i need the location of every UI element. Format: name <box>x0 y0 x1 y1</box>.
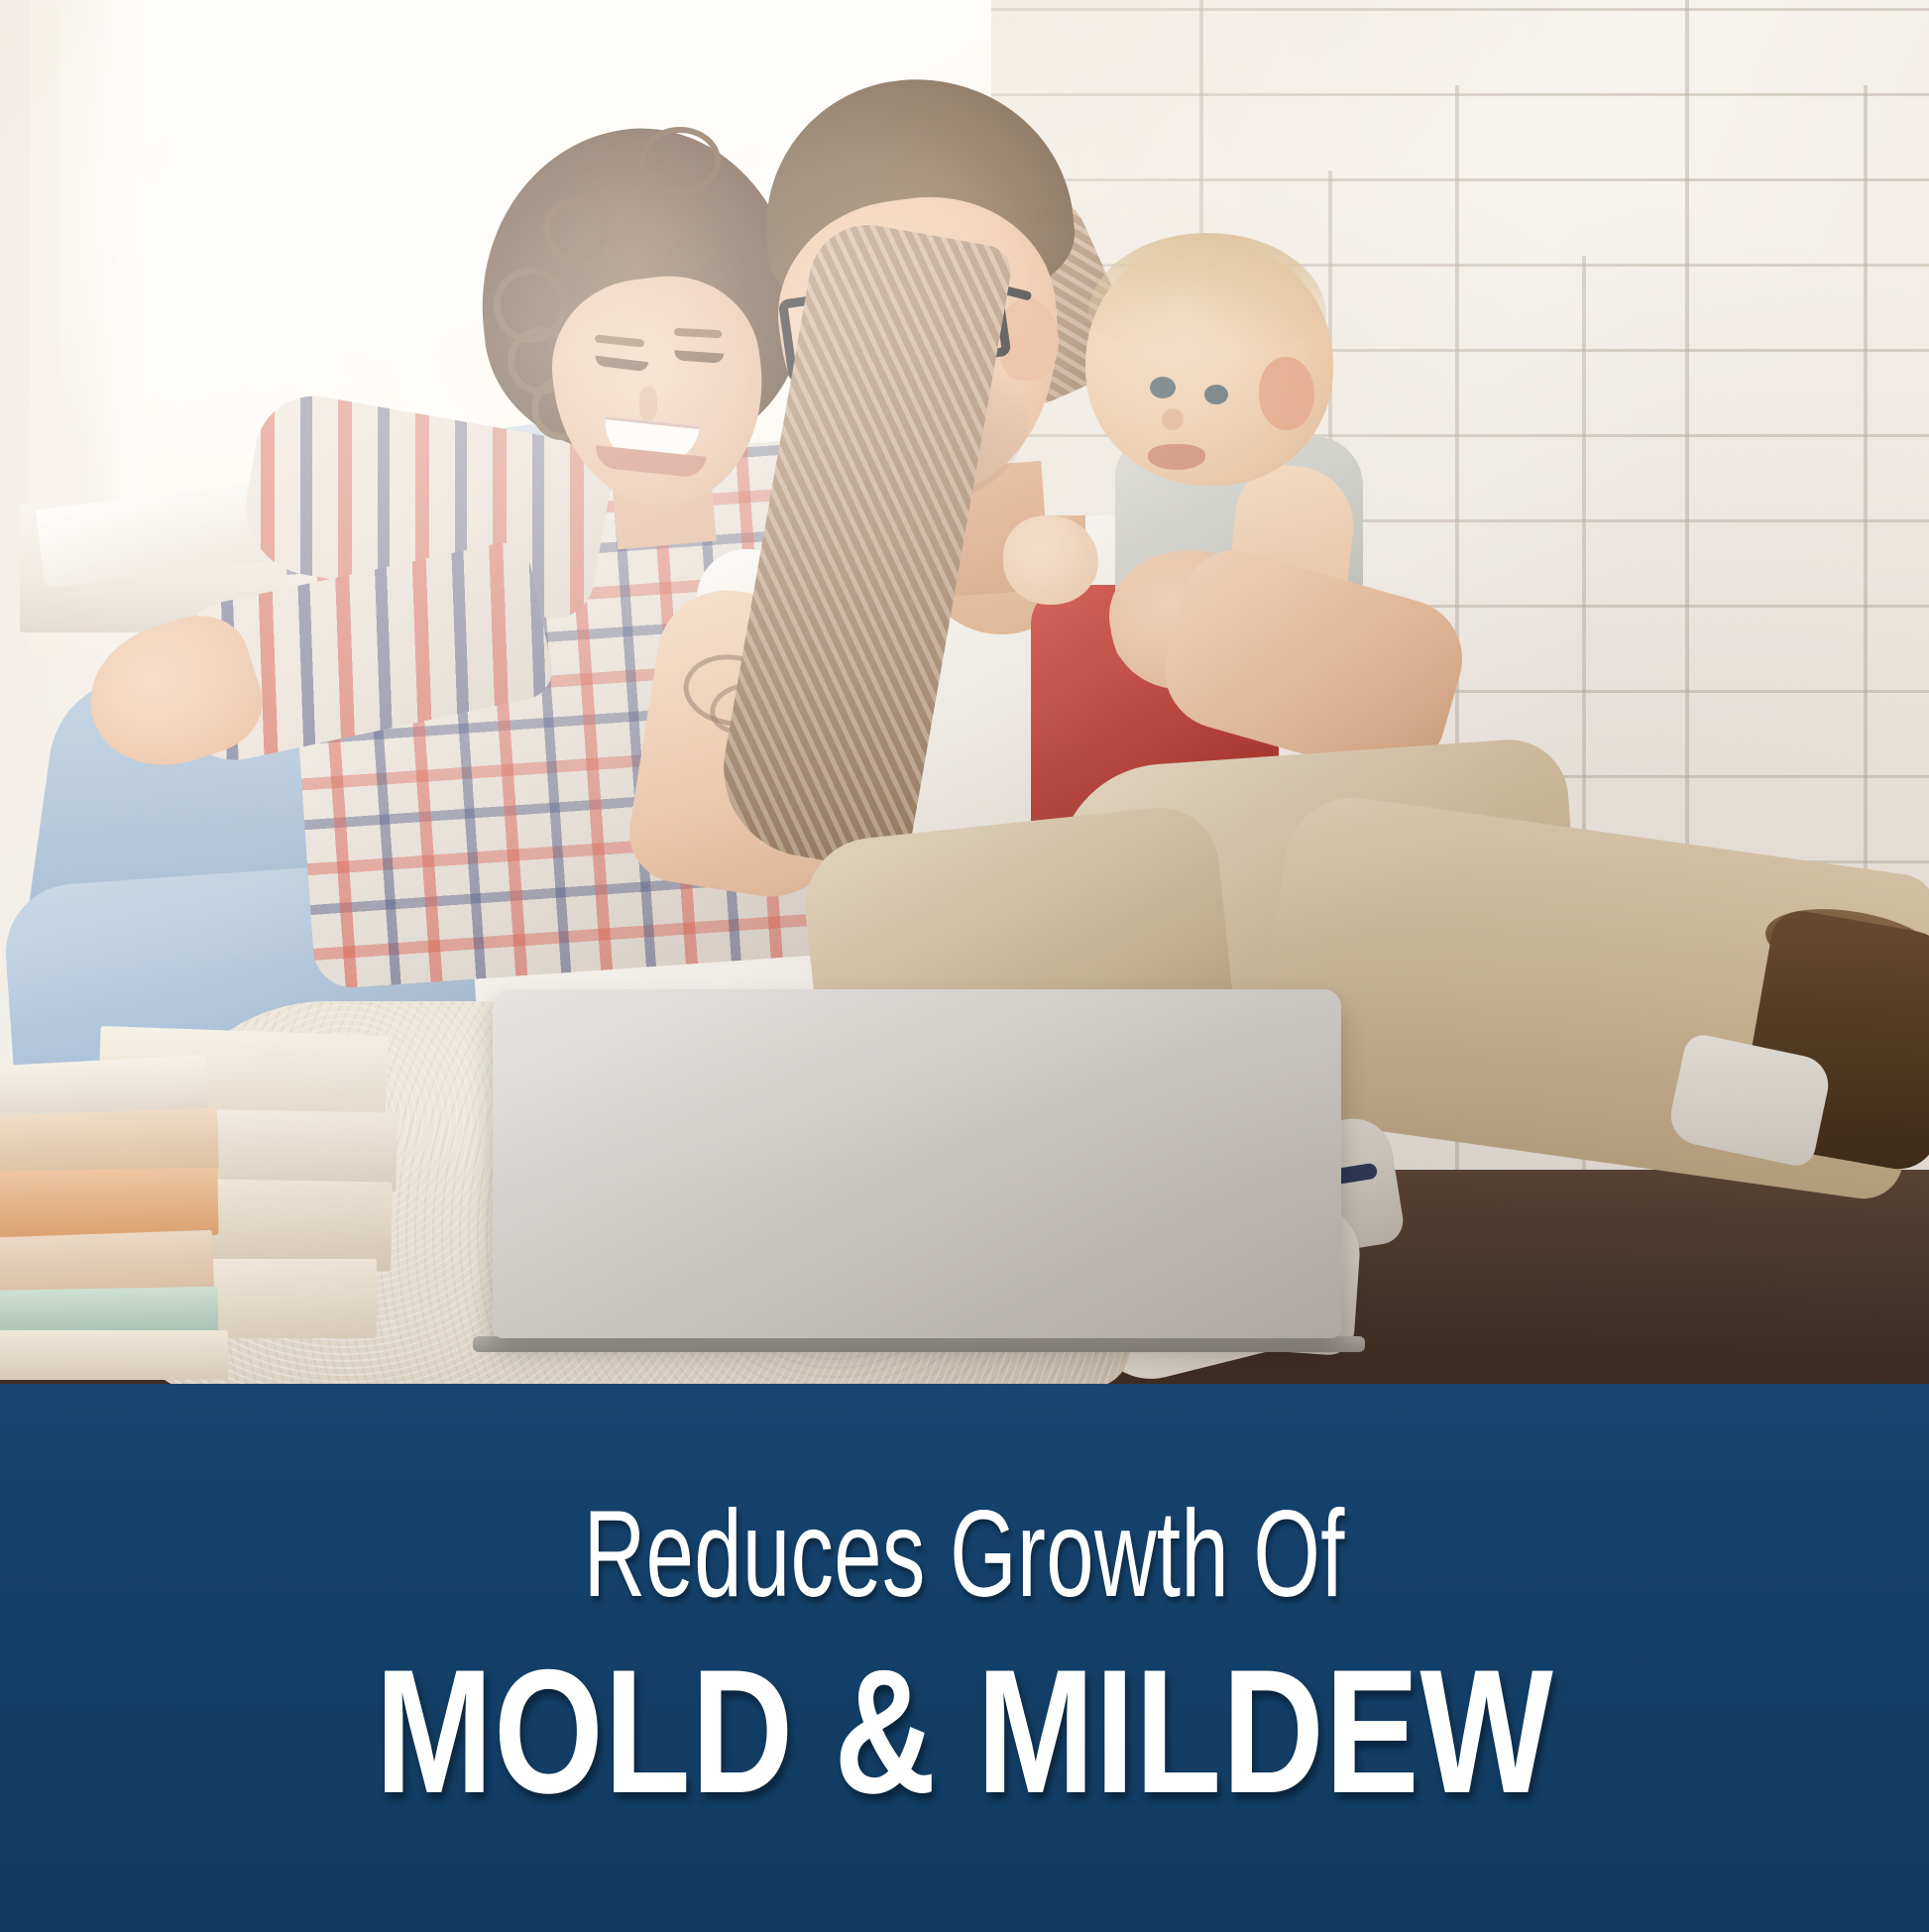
book <box>0 1287 218 1336</box>
baby-mouth <box>1148 444 1205 470</box>
headline-subtitle: Reduces Growth Of <box>584 1493 1345 1616</box>
baby-eye <box>1150 377 1176 398</box>
hair-curl <box>543 198 609 262</box>
headline-title: MOLD & MILDEW <box>376 1644 1554 1820</box>
baby-eye <box>1204 385 1228 404</box>
hair-curl <box>639 127 721 194</box>
product-marketing-poster: Reduces Growth Of MOLD & MILDEW <box>0 0 1929 1932</box>
book <box>0 1330 228 1380</box>
woman-nose <box>639 387 657 420</box>
baby-hand <box>1003 515 1098 605</box>
laptop <box>493 989 1341 1338</box>
book <box>0 1168 219 1239</box>
baby-nose <box>1162 408 1184 430</box>
laptop-base <box>473 1336 1365 1352</box>
family-lifestyle-photo <box>0 0 1929 1385</box>
headline-banner: Reduces Growth Of MOLD & MILDEW <box>0 1384 1929 1932</box>
baby-ear <box>1259 357 1314 430</box>
